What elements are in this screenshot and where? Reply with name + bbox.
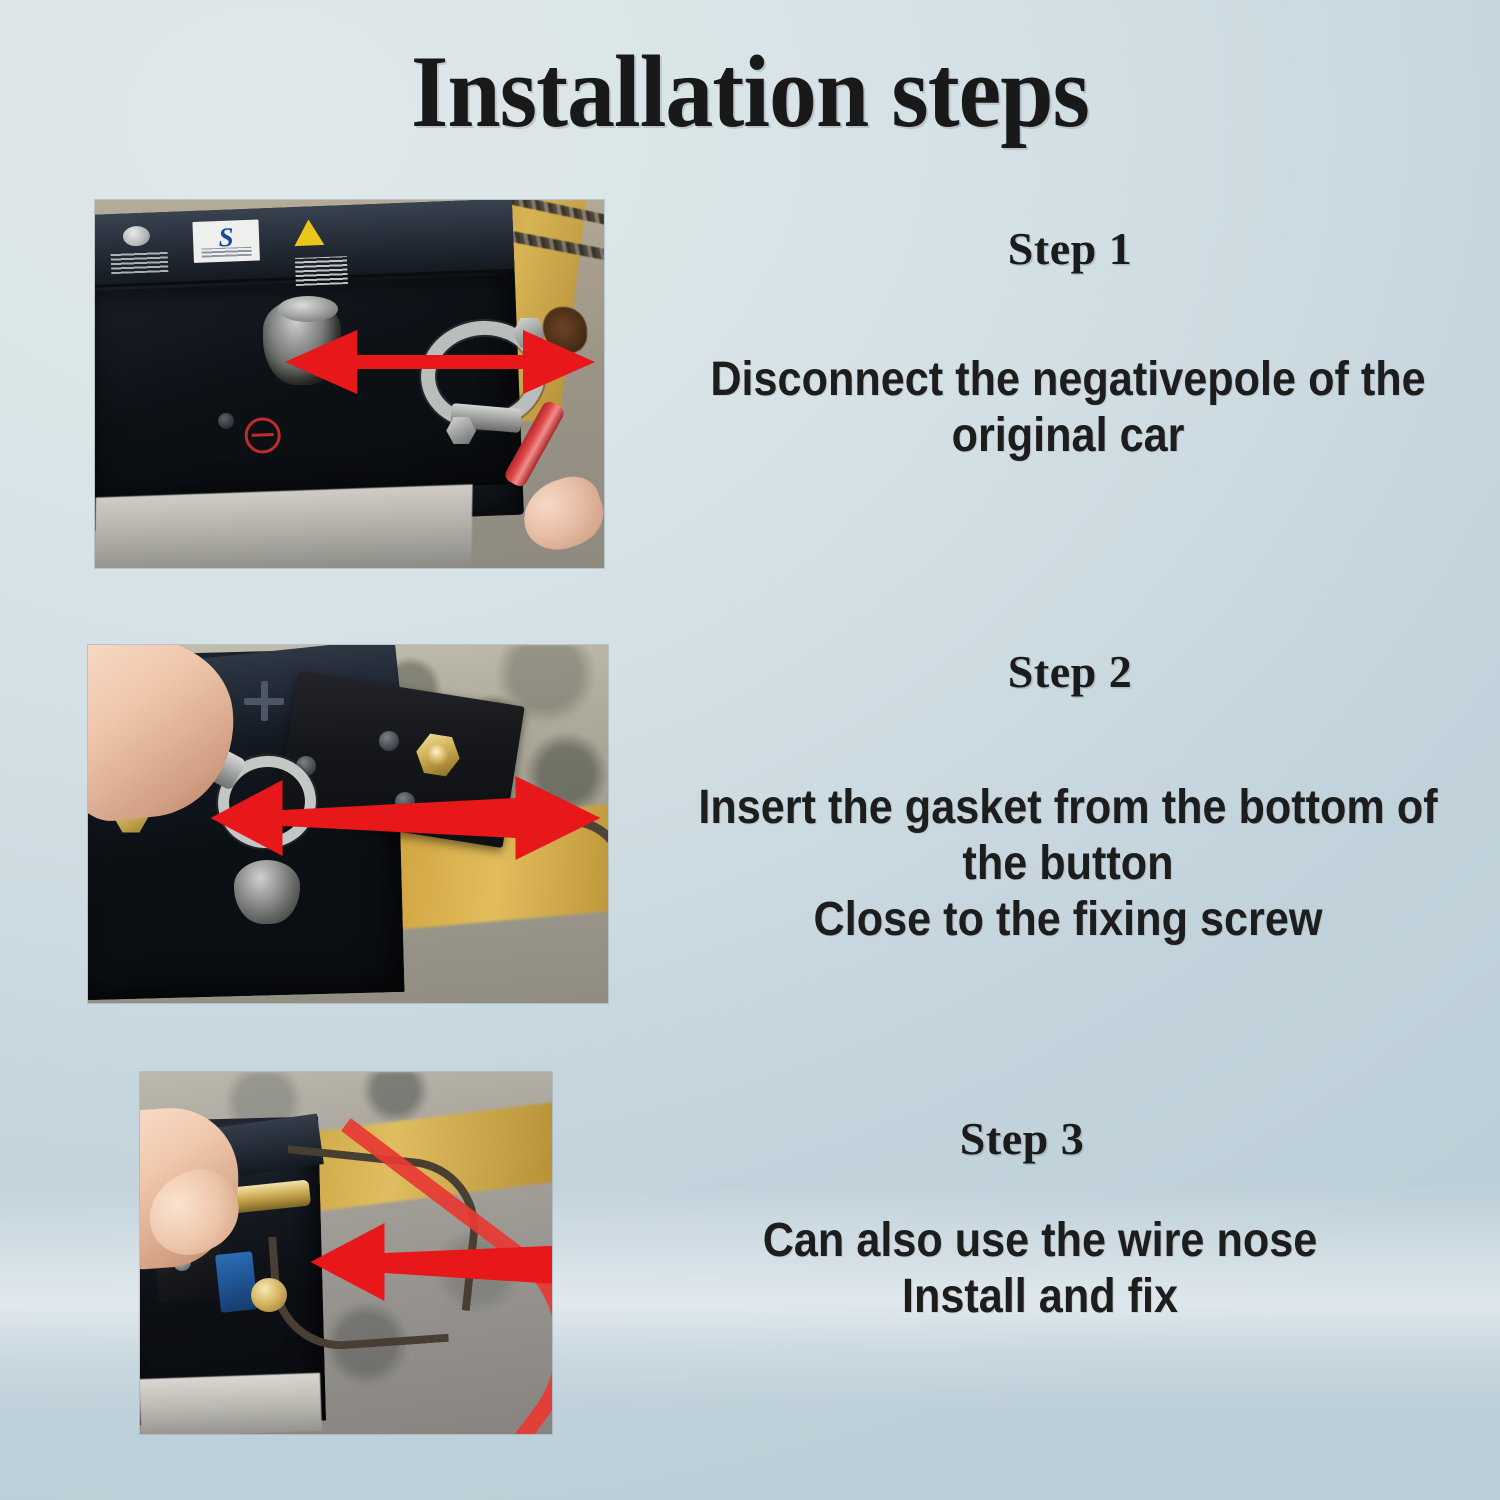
battery-terminal-post (234, 860, 300, 924)
step1-description: Disconnect the negativepole of the origi… (663, 352, 1473, 464)
battery-terminal-post-top (278, 296, 338, 322)
finger-crease (88, 654, 112, 727)
warning-label-text (294, 256, 348, 286)
warning-triangle-icon (293, 219, 324, 246)
step3-direction-arrow (265, 1215, 552, 1310)
step1-line-2: original car (663, 408, 1473, 464)
step1-photo (95, 200, 604, 568)
step3-photo (140, 1072, 552, 1434)
page-title: Installation steps (53, 38, 1448, 147)
certification-sticker (192, 220, 259, 264)
step3-heading: Step 3 (742, 1112, 1302, 1165)
step3-line-1: Can also use the wire nose (725, 1213, 1355, 1269)
step1-direction-arrow (275, 325, 604, 407)
step2-direction-arrow (158, 770, 608, 860)
step1-line-1: Disconnect the negativepole of the (663, 352, 1473, 408)
step2-line-1: Insert the gasket from the bottom of (663, 780, 1473, 836)
step2-description: Insert the gasket from the bottom of the… (663, 780, 1473, 948)
battery-base-tray (95, 484, 472, 568)
battery-label-text (110, 250, 168, 274)
plate-screw (379, 731, 399, 751)
installation-steps-infographic: Installation steps (0, 0, 1500, 1500)
step1-heading: Step 1 (790, 222, 1350, 275)
step2-line-3: Close to the fixing screw (663, 892, 1473, 948)
step2-line-2: the button (663, 836, 1473, 892)
battery-vent-hole (217, 412, 234, 429)
step3-line-2: Install and fix (725, 1269, 1355, 1325)
step2-heading: Step 2 (790, 645, 1350, 698)
battery-base-tray (140, 1373, 322, 1434)
step3-description: Can also use the wire nose Install and f… (725, 1213, 1355, 1325)
step2-photo (88, 645, 608, 1003)
positive-polarity-marking (244, 681, 284, 721)
